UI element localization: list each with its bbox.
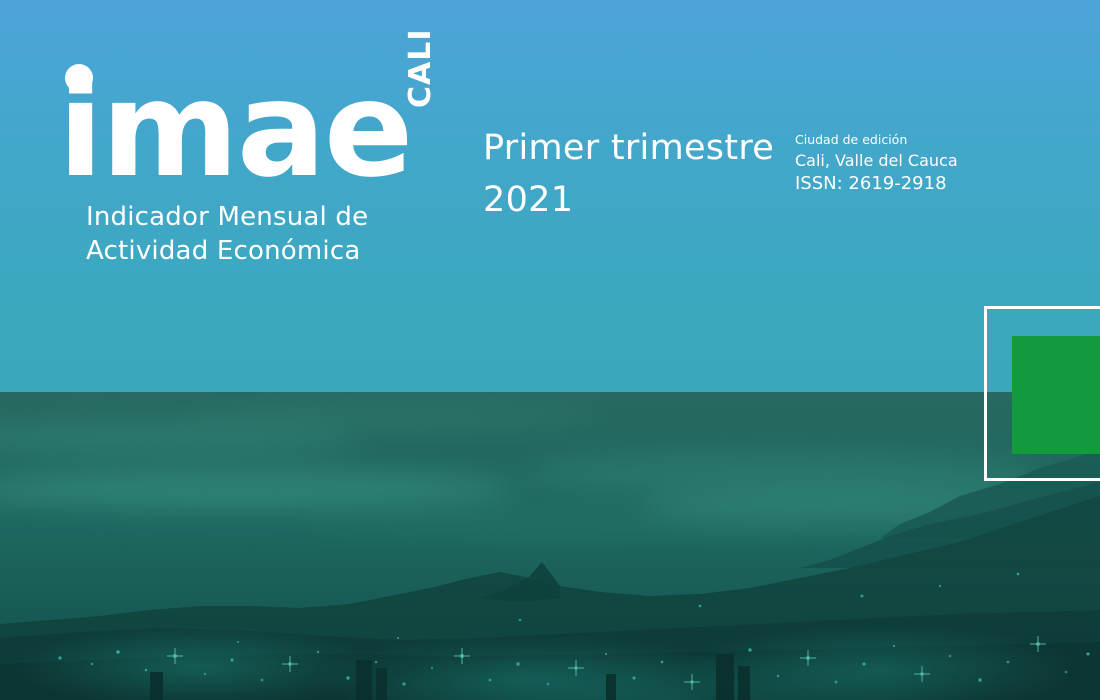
logo-tagline: Indicador Mensual de Actividad Económica [86,200,368,268]
logo-i-dot-icon [65,64,93,92]
edition-city: Cali, Valle del Cauca [795,150,958,172]
imae-logo: imae CALI Indicador Mensual de Actividad… [58,58,368,268]
period-line-1: Primer trimestre [483,122,774,174]
tagline-line-2: Actividad Económica [86,234,368,268]
logo-text-cali: CALI [403,28,438,108]
edition-label: Ciudad de edición [795,130,958,150]
city-lights [0,392,1100,700]
report-period: Primer trimestre 2021 [483,122,774,226]
decorative-green-square [1012,336,1100,454]
report-cover-page: imae CALI Indicador Mensual de Actividad… [0,0,1100,700]
logo-wordmark: imae CALI [58,58,368,194]
cover-photograph [0,392,1100,700]
edition-issn: ISSN: 2619-2918 [795,172,958,196]
logo-text-imae: imae [58,64,411,196]
edition-info: Ciudad de edición Cali, Valle del Cauca … [795,130,958,196]
period-line-2: 2021 [483,174,774,226]
